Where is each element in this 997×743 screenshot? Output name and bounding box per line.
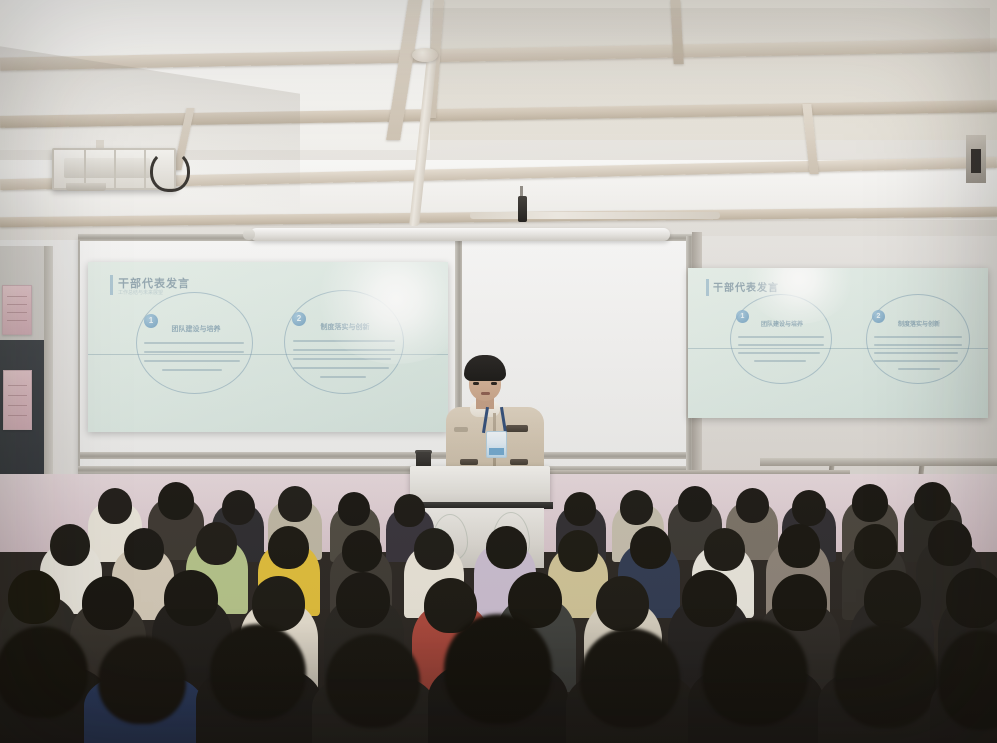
audience-head [736,488,769,523]
audience-head [124,528,164,570]
jacket-chest-pocket [506,425,528,432]
audience-head [338,492,370,526]
audience-head [620,490,653,525]
slide-bubble-heading-1: 团队建设与培养 [740,319,824,328]
lanyard-id-badge [486,431,507,458]
lecture-hall-photo: 干部代表发言 工作总结与未来展望 1 团队建设与培养 2 制度落实与创新 [0,0,997,743]
audience-head [564,492,596,526]
presenter-mouth [481,392,490,395]
audience-head-foreground [98,636,186,724]
audience-head [222,490,255,525]
jacket-side-pocket [510,459,528,465]
audience-head-foreground [580,628,680,728]
ceiling-sensor [518,196,527,222]
wall-mounted-shelf [760,458,997,466]
audience-head [164,570,218,626]
slide-bubble-heading-2: 制度落实与创新 [876,319,962,328]
audience-head [196,522,237,565]
audience-head [678,486,712,522]
ceiling-shadow [430,8,990,128]
slide-bubble-heading-2: 制度落实与创新 [296,322,394,332]
audience-head-foreground [210,624,306,720]
student-speaker [440,355,550,475]
projector-body [64,158,150,178]
audience-head [704,528,745,571]
conduit-pipe-horizontal [470,212,720,219]
audience-head [854,524,897,569]
audience-head [630,526,671,569]
seated-student-audience [0,478,997,743]
audience-head [414,528,454,570]
notice-poster-lower [3,370,32,430]
slide-accent-bar [706,279,709,296]
audience-head [394,494,425,527]
audience-head [336,572,390,628]
slide-title: 干部代表发言 [713,279,779,294]
slide-accent-bar [110,275,113,295]
pipe-joint [412,48,438,62]
whiteboard-rail-middle [80,452,698,459]
audience-head-foreground [702,620,808,726]
projector-power-cable [150,150,190,192]
audience-head [928,520,972,566]
audience-head [558,530,598,572]
audience-head-foreground [444,614,552,724]
audience-head [278,486,312,522]
jacket-side-pocket [460,459,478,465]
audience-head [486,526,527,569]
wall-edge-trim [44,246,53,491]
notice-poster-upper [2,285,32,335]
audience-head [864,570,921,629]
audience-head [252,576,305,631]
slide-bubble-2 [866,294,970,384]
ceiling-fixture-right [966,135,986,183]
screen-casing-cap [243,229,255,240]
slide-subtitle: 工作总结与未来展望 [118,289,163,296]
jacket-flap [454,427,468,432]
audience-head [50,524,90,566]
audience-head [98,488,132,524]
roll-up-screen-casing [250,228,670,241]
audience-head-foreground [834,624,938,728]
slide-bubble-1 [730,294,832,384]
audience-head [82,576,134,630]
audience-head [792,490,826,526]
audience-head [8,570,60,624]
audience-head-foreground [326,634,420,728]
audience-head [682,570,737,627]
projector-lens [66,183,106,191]
audience-head-foreground [0,626,88,718]
audience-head [852,484,888,522]
presenter-hair [464,355,506,381]
audience-head [946,568,997,628]
left-projection-screen: 干部代表发言 工作总结与未来展望 1 团队建设与培养 2 制度落实与创新 [88,262,448,432]
right-projection-screen: 干部代表发言 1 团队建设与培养 2 制度落实与创新 [688,268,988,418]
audience-head [268,526,309,569]
slide-bubble-2 [284,290,404,394]
audience-head [914,482,951,521]
audience-head [772,574,827,631]
audience-head [778,524,820,568]
audience-head [158,482,194,520]
slide-bubble-heading-1: 团队建设与培养 [148,324,244,334]
audience-head [596,576,649,631]
audience-head [342,530,382,572]
